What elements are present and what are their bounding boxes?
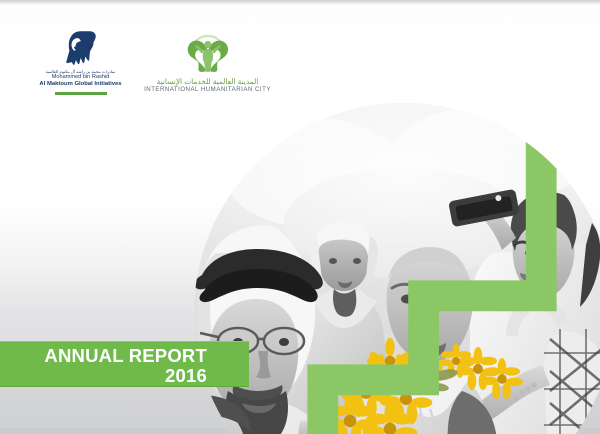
ihc-arabic-name: المدينة العالمية للخدمات الإنسانية (140, 77, 275, 86)
embracing-figure-icon (182, 28, 234, 74)
report-cover: مبادرات محمد بن راشد آل مكتوم العالمية M… (0, 0, 600, 434)
ihc-logo: المدينة العالمية للخدمات الإنسانية INTER… (140, 28, 275, 94)
top-edge-strip (0, 0, 600, 5)
annual-report-banner: ANNUAL REPORT 2016 (0, 341, 249, 387)
cover-photo-disc (189, 98, 600, 434)
portrait-silhouette-icon (62, 30, 99, 66)
mbrgi-english-line2: Al Maktoum Global Initiatives (28, 81, 133, 89)
mbrgi-rule (55, 92, 107, 95)
report-title: ANNUAL REPORT (44, 346, 207, 365)
report-year: 2016 (44, 365, 207, 386)
banner-text: ANNUAL REPORT 2016 (44, 346, 207, 387)
ihc-english-name: INTERNATIONAL HUMANITARIAN CITY (140, 86, 275, 94)
mbrgi-logo: مبادرات محمد بن راشد آل مكتوم العالمية M… (28, 30, 133, 95)
mbrgi-english-line1: Mohammed bin Rashid (28, 74, 133, 81)
photo-illustration (194, 103, 600, 434)
cover-photograph (194, 103, 600, 434)
